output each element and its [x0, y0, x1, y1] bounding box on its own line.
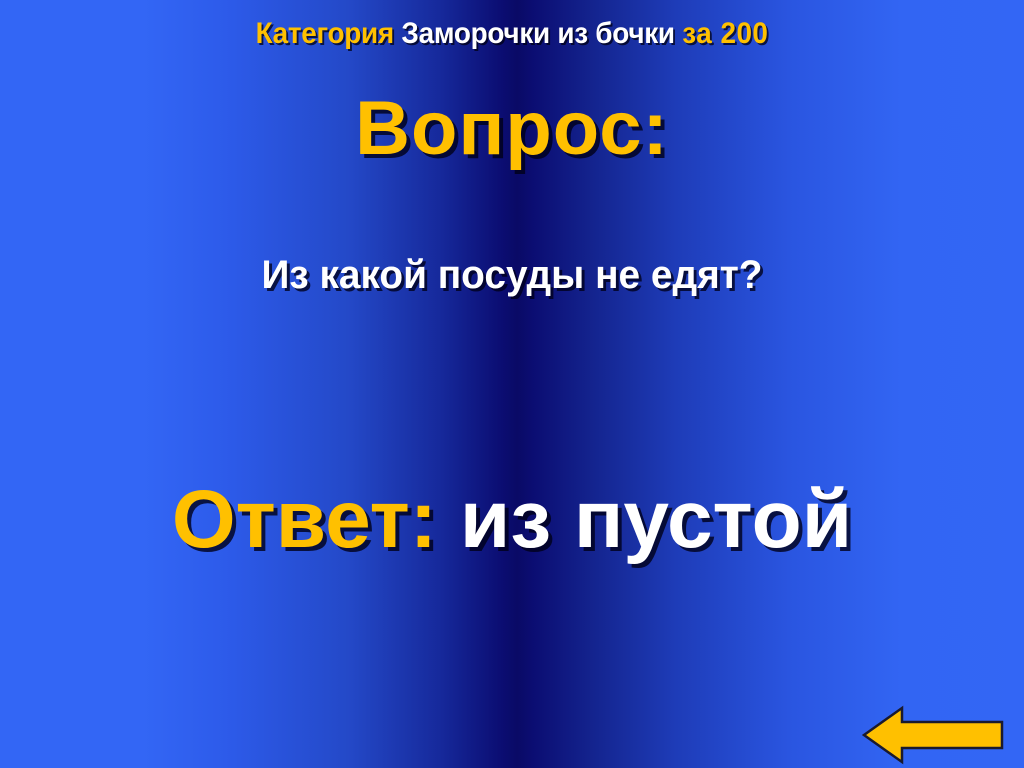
arrow-left-icon[interactable] [862, 704, 1004, 766]
category-label: Категория [256, 17, 394, 50]
answer-value: из пустой [460, 474, 852, 565]
answer-spacer [437, 474, 460, 565]
question-title: Вопрос: [0, 86, 1024, 172]
header-space-2 [675, 17, 682, 50]
answer-line: Ответ: из пустой [0, 470, 1024, 570]
back-arrow-button[interactable] [862, 704, 1004, 766]
category-name: Заморочки из бочки [401, 17, 674, 50]
answer-label: Ответ: [172, 474, 437, 565]
question-text: Из какой посуды не едят? [15, 250, 1008, 300]
slide-header: Категория Заморочки из бочки за 200 [36, 16, 988, 52]
slide-canvas: Категория Заморочки из бочки за 200 Вопр… [0, 0, 1024, 768]
points-label: за 200 [682, 17, 768, 50]
header-space-1 [394, 17, 401, 50]
